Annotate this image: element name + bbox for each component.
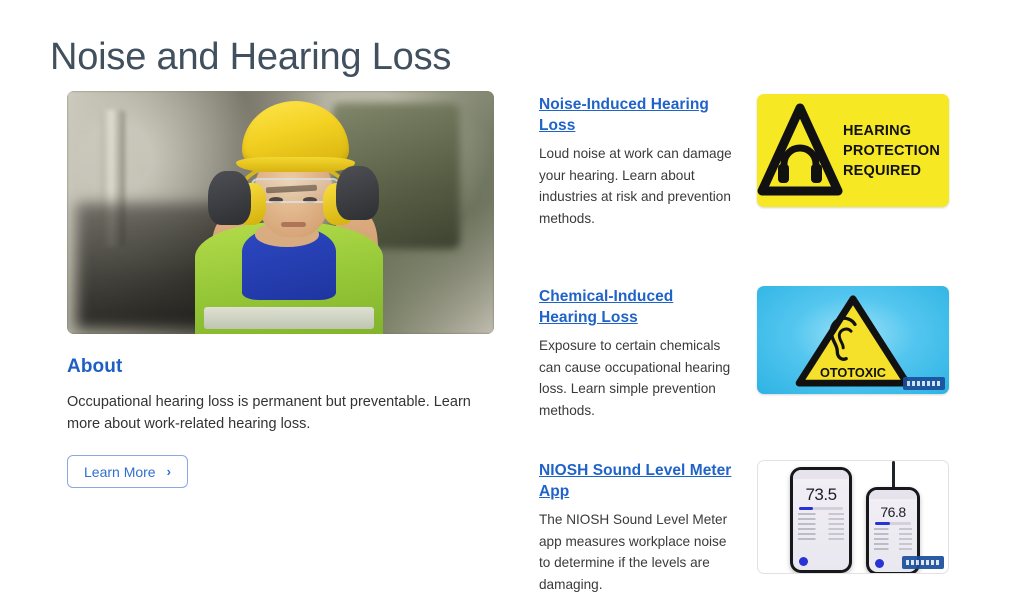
cdc-niosh-logo-watermark — [903, 377, 945, 390]
cdc-niosh-logo-watermark — [902, 556, 944, 569]
record-button-icon — [875, 559, 884, 568]
about-description: Occupational hearing loss is permanent b… — [67, 391, 482, 435]
page-root: Noise and Hearing Loss — [0, 0, 1024, 611]
level-progress-bar — [799, 507, 843, 510]
card-description: Exposure to certain chemicals can cause … — [539, 335, 735, 421]
phone-screen: 73.5 — [793, 470, 849, 570]
record-button-icon — [799, 557, 808, 566]
card-title-link[interactable]: Noise-Induced Hearing Loss — [539, 96, 709, 134]
card-text-block: NIOSH Sound Level Meter App The NIOSH So… — [539, 460, 735, 595]
card-text-block: Chemical-Induced Hearing Loss Exposure t… — [539, 286, 735, 421]
svg-text:OTOTOXIC: OTOTOXIC — [820, 365, 886, 380]
card-media[interactable]: OTOTOXIC — [757, 286, 949, 421]
sound-level-reading: 76.8 — [869, 504, 917, 520]
sound-level-meter-app-screenshot: 73.5 76.8 — [757, 460, 949, 574]
learn-more-button[interactable]: Learn More › — [67, 455, 188, 488]
about-section: About Occupational hearing loss is perma… — [67, 91, 494, 488]
photo-overlay — [67, 91, 494, 334]
page-title: Noise and Hearing Loss — [50, 33, 451, 81]
card-title-link[interactable]: Chemical-Induced Hearing Loss — [539, 288, 673, 326]
microphone-cord — [892, 461, 895, 489]
level-progress-bar — [875, 522, 911, 525]
card-media[interactable]: HEARING PROTECTION REQUIRED — [757, 94, 949, 229]
sound-level-reading: 73.5 — [793, 485, 849, 505]
card-description: Loud noise at work can damage your heari… — [539, 143, 735, 229]
sign-line-2: PROTECTION — [843, 141, 940, 161]
card-chemical-induced-hearing-loss[interactable]: Chemical-Induced Hearing Loss Exposure t… — [539, 286, 949, 421]
hero-photo-worker-hearing-protection — [67, 91, 494, 334]
ear-triangle-icon: OTOTOXIC — [794, 291, 912, 389]
card-description: The NIOSH Sound Level Meter app measures… — [539, 509, 735, 595]
card-text-block: Noise-Induced Hearing Loss Loud noise at… — [539, 94, 735, 229]
learn-more-label: Learn More — [84, 464, 156, 480]
measurement-rows — [874, 528, 912, 550]
measurement-rows — [798, 513, 844, 540]
phone-status-bar — [869, 490, 917, 499]
ear-muffs-triangle-icon — [757, 94, 843, 207]
sign-line-1: HEARING — [843, 121, 940, 141]
sign-text: HEARING PROTECTION REQUIRED — [843, 121, 940, 181]
phone-status-bar — [793, 470, 849, 479]
card-media[interactable]: 73.5 76.8 — [757, 460, 949, 595]
card-noise-induced-hearing-loss[interactable]: Noise-Induced Hearing Loss Loud noise at… — [539, 94, 949, 229]
chevron-right-icon: › — [167, 464, 171, 479]
card-niosh-sound-level-meter-app[interactable]: NIOSH Sound Level Meter App The NIOSH So… — [539, 460, 949, 595]
about-heading: About — [67, 356, 494, 378]
ototoxic-sign-image: OTOTOXIC — [757, 286, 949, 394]
card-title-link[interactable]: NIOSH Sound Level Meter App — [539, 462, 731, 500]
phone-primary: 73.5 — [790, 467, 852, 573]
hearing-protection-required-sign: HEARING PROTECTION REQUIRED — [757, 94, 949, 207]
sign-line-3: REQUIRED — [843, 161, 940, 181]
